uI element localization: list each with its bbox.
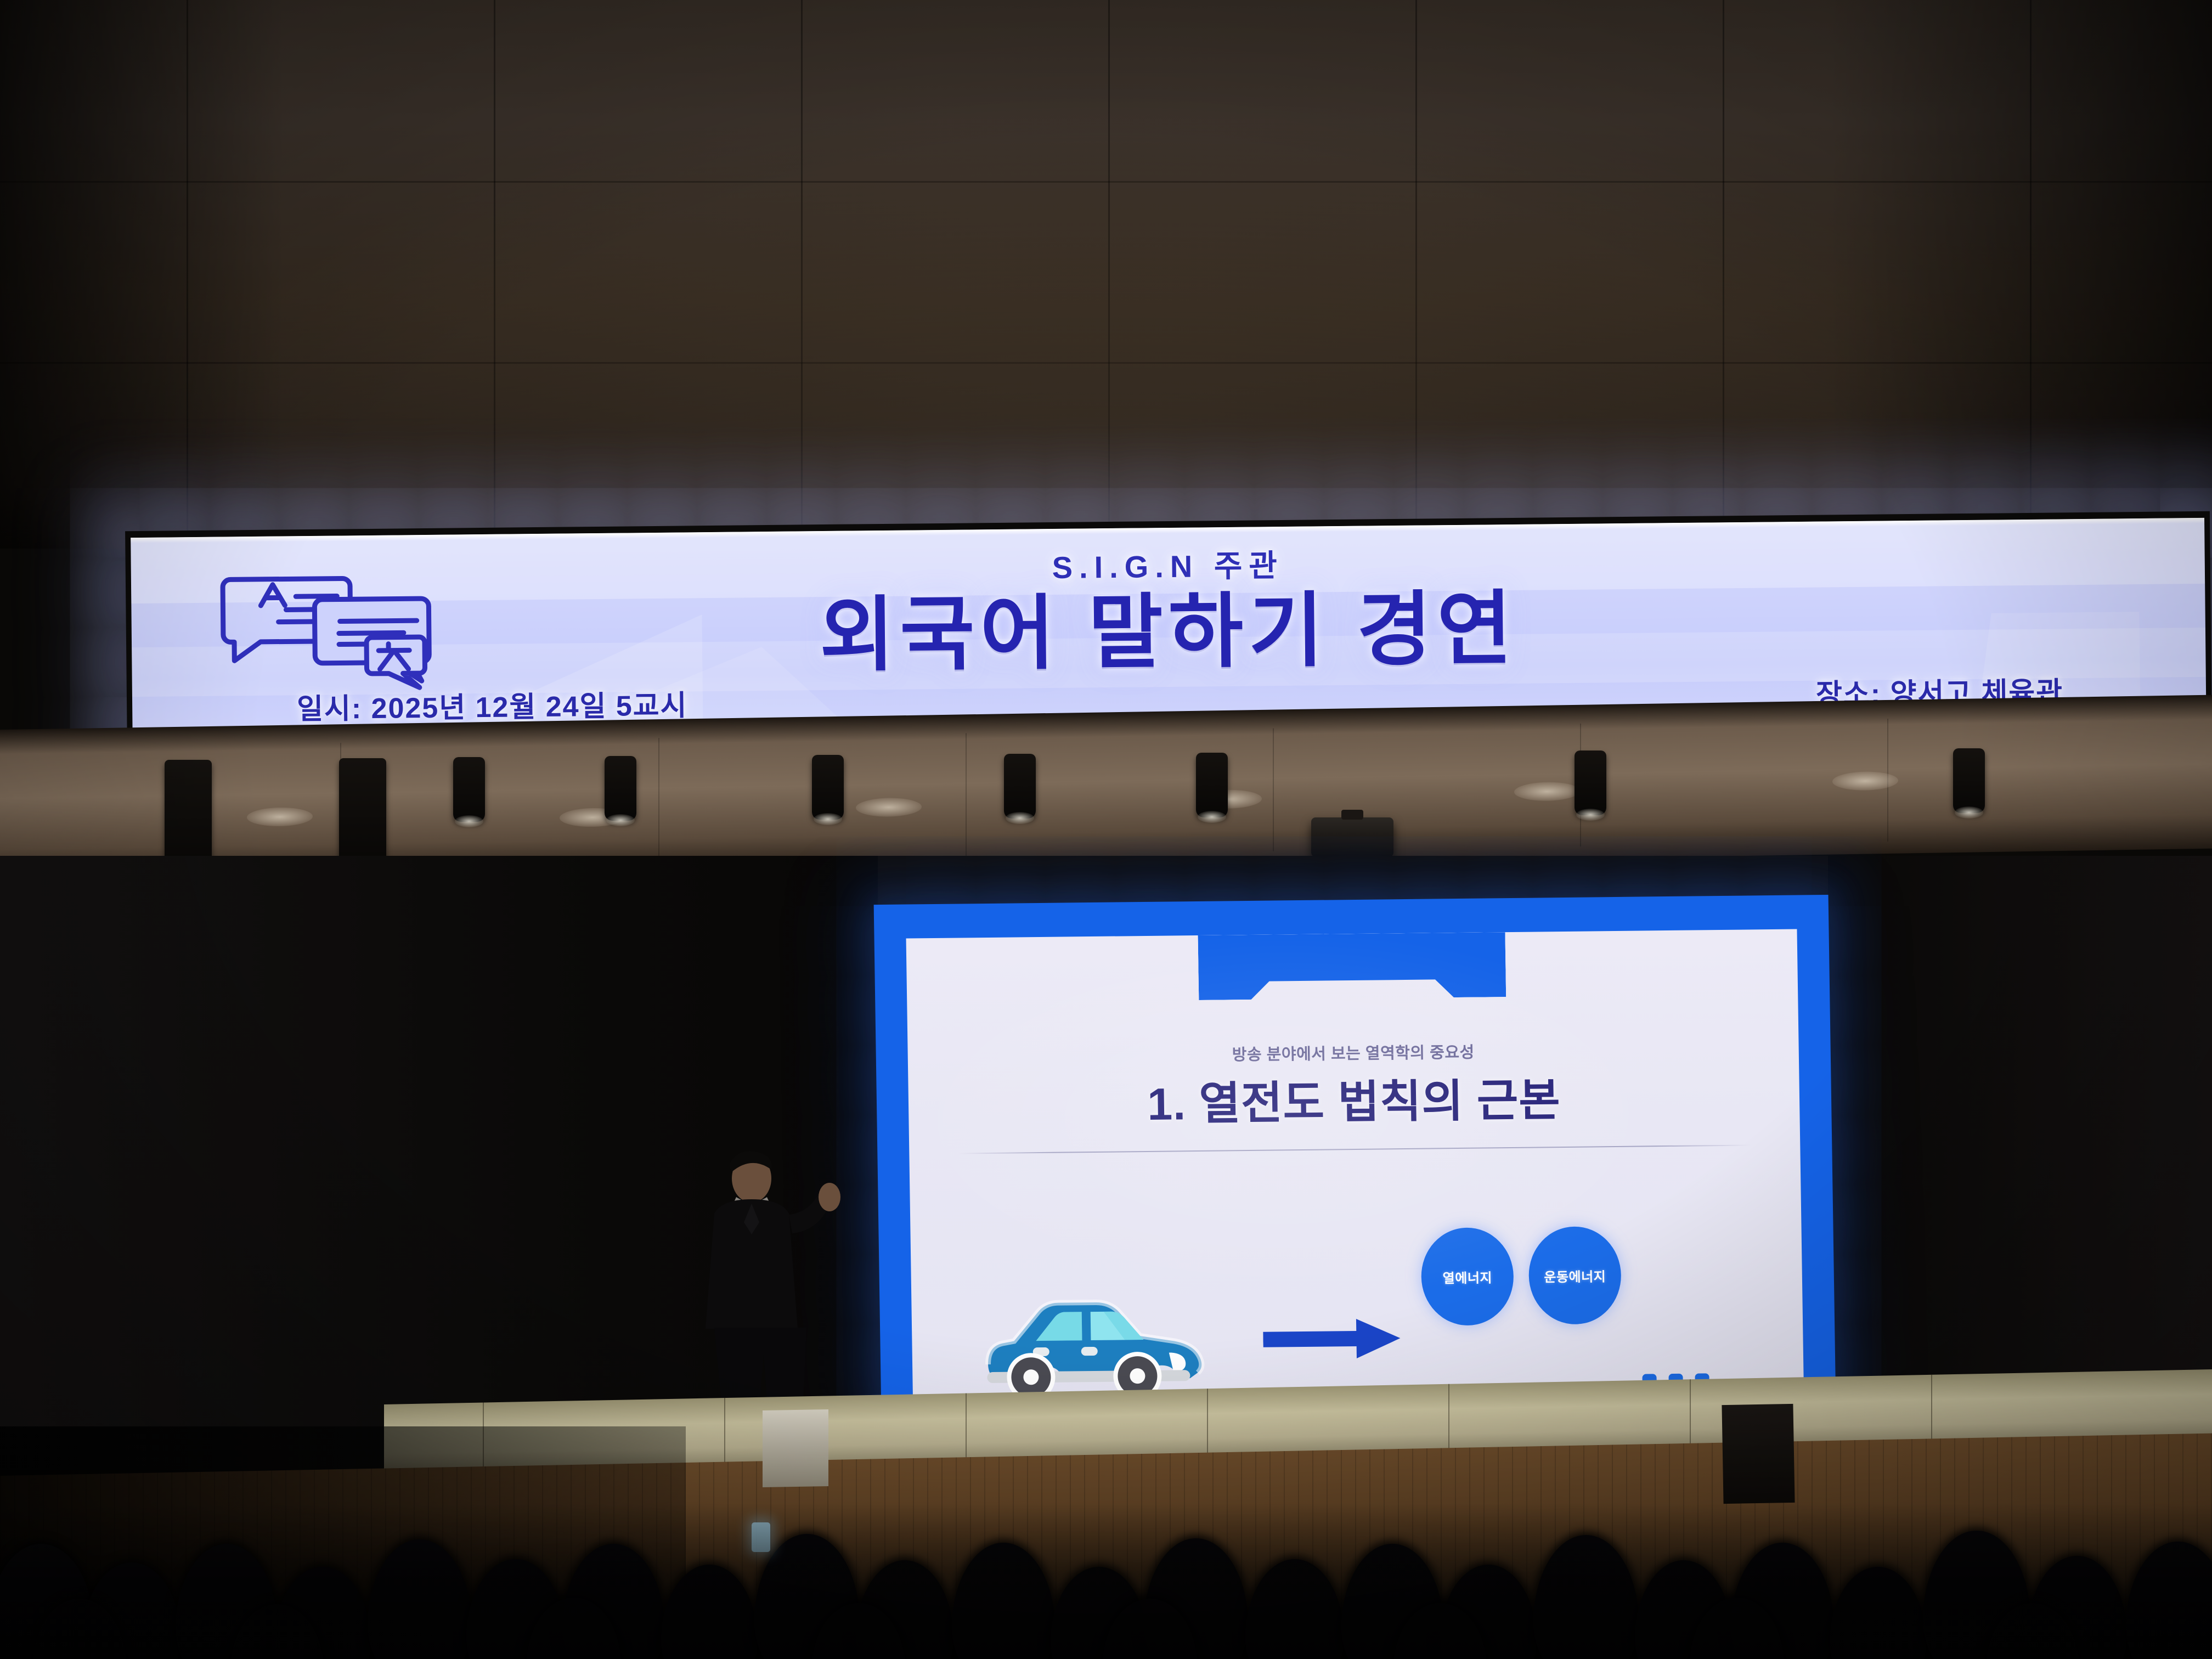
slide-title: 1. 열전도 법칙의 근본 bbox=[908, 1061, 1800, 1136]
projection-screen: SIGN 영어 말하기 대회 PPT 방송 분야에서 보는 열역학의 중요성 1… bbox=[874, 895, 1837, 1453]
energy-circle-label: 열에너지 bbox=[1442, 1267, 1492, 1286]
right-arrow-icon bbox=[1263, 1316, 1401, 1362]
wall-shadow-left bbox=[0, 0, 285, 549]
speaker-cabinet bbox=[1722, 1404, 1795, 1504]
wall-shadow-right bbox=[1828, 0, 2212, 549]
ceiling-projector bbox=[1311, 817, 1393, 857]
slide-divider bbox=[958, 1144, 1751, 1154]
energy-circle: 운동에너지 bbox=[1528, 1226, 1622, 1325]
blue-car-icon bbox=[977, 1270, 1215, 1404]
slide-body: 열에너지 운동에너지 소리에너지 전기에너지 bbox=[910, 1165, 1804, 1403]
presentation-slide: SIGN 영어 말하기 대회 PPT 방송 분야에서 보는 열역학의 중요성 1… bbox=[906, 929, 1804, 1420]
presenter-silhouette bbox=[686, 1147, 850, 1432]
slide-tab-shape bbox=[1198, 932, 1506, 1000]
stage-light bbox=[1004, 754, 1036, 819]
stage-light bbox=[1575, 751, 1606, 815]
stage-light bbox=[812, 755, 844, 820]
audience-row bbox=[0, 1492, 2212, 1659]
auditorium-photo: S.I.G.N 주관 외국어 말하기 경연 일시: 2025년 12월 24일 … bbox=[0, 0, 2212, 1659]
phone-screen-glow bbox=[752, 1522, 770, 1552]
stage-light bbox=[605, 756, 636, 821]
podium bbox=[763, 1409, 828, 1487]
energy-circle-label: 운동에너지 bbox=[1544, 1266, 1606, 1285]
stage-light bbox=[453, 757, 485, 822]
energy-circle: 열에너지 bbox=[1420, 1227, 1514, 1326]
stage-light bbox=[1196, 753, 1228, 817]
stage-light bbox=[1953, 748, 1985, 813]
